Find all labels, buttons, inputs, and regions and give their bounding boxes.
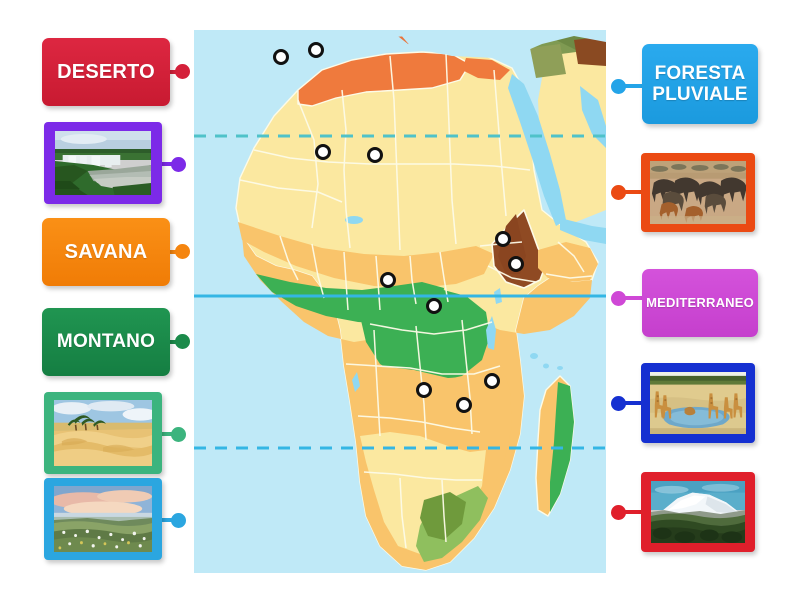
marker-3 [317, 146, 330, 159]
photo-frame [650, 372, 746, 434]
card-mediterraneo[interactable]: MEDITERRANEO [642, 269, 758, 337]
card-photo-giraffes-waterhole[interactable] [641, 363, 755, 443]
marker-5 [497, 233, 510, 246]
card-photo-kilimanjaro[interactable] [641, 472, 755, 552]
photo-frame [651, 481, 745, 543]
photo-snow-capped-mountain [651, 481, 745, 543]
africa-climate-map[interactable] [194, 30, 606, 573]
card-label-deserto: DESERTO [49, 61, 163, 84]
connector-dot[interactable] [175, 64, 190, 79]
connector-dot[interactable] [611, 79, 626, 94]
card-photo-wildebeest[interactable] [641, 153, 755, 232]
connector-dot[interactable] [171, 427, 186, 442]
connector-dot[interactable] [611, 185, 626, 200]
card-photo-waterfall[interactable] [44, 122, 162, 204]
card-montano[interactable]: MONTANO [42, 308, 170, 376]
marker-1 [275, 51, 288, 64]
photo-wildebeest-herd-savanna [650, 161, 746, 224]
card-foresta-pluviale[interactable]: FORESTA PLUVIALE [642, 44, 758, 124]
map-graphic [194, 30, 606, 573]
connector-dot[interactable] [175, 334, 190, 349]
marker-4 [369, 149, 382, 162]
card-label-foresta-line1: FORESTA [647, 63, 754, 84]
marker-2 [310, 44, 323, 57]
card-savana[interactable]: SAVANA [42, 218, 170, 286]
card-label-foresta-line2: PLUVIALE [644, 84, 756, 105]
connector-dot[interactable] [611, 396, 626, 411]
card-deserto[interactable]: DESERTO [42, 38, 170, 106]
marker-10 [486, 375, 499, 388]
connector-dot[interactable] [171, 157, 186, 172]
card-label-montano: MONTANO [49, 331, 163, 352]
photo-frame [650, 161, 746, 224]
marker-8 [428, 300, 441, 313]
photo-giraffes-at-waterhole [650, 372, 746, 434]
marker-9 [418, 384, 431, 397]
connector-dot[interactable] [611, 505, 626, 520]
connector-dot[interactable] [171, 513, 186, 528]
quiz-diagram-stage: DESERTO [0, 0, 800, 600]
connector-dot[interactable] [175, 244, 190, 259]
connector-dot[interactable] [611, 291, 626, 306]
card-label-mediterraneo: MEDITERRANEO [642, 296, 758, 311]
marker-7 [382, 274, 395, 287]
photo-frame [55, 131, 151, 195]
card-label-savana: SAVANA [57, 241, 156, 264]
photo-frame [54, 400, 152, 466]
marker-6 [510, 258, 523, 271]
card-photo-desert-oasis[interactable] [44, 392, 162, 474]
photo-frame [54, 486, 152, 552]
photo-tropical-waterfall-rainforest [55, 131, 151, 195]
card-photo-coastal-scrub[interactable] [44, 478, 162, 560]
photo-coastal-flower-meadow-sunset [54, 486, 152, 552]
photo-sand-dunes-palm-oasis [54, 400, 152, 466]
marker-11 [458, 399, 471, 412]
